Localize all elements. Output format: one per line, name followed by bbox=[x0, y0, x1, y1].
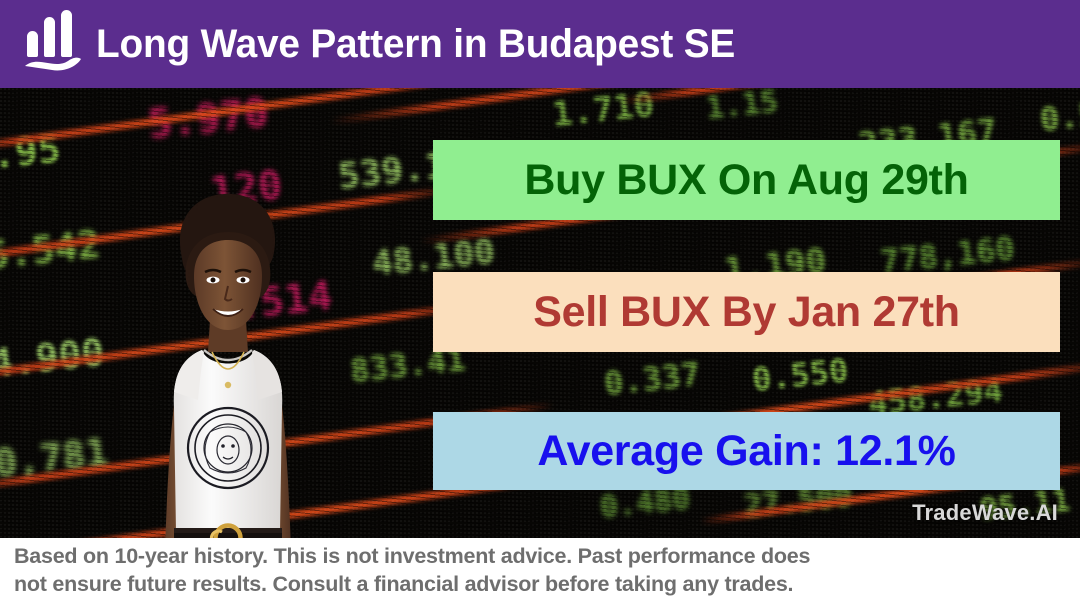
bar-chart-wave-logo-icon bbox=[24, 16, 82, 72]
person-photo bbox=[124, 180, 332, 600]
poster-canvas: 5.970.951.7101.15233 1670.5539.151205.54… bbox=[0, 0, 1080, 600]
buy-signal-text: Buy BUX On Aug 29th bbox=[524, 156, 968, 205]
buy-signal-banner[interactable]: Buy BUX On Aug 29th bbox=[433, 140, 1060, 220]
average-gain-banner[interactable]: Average Gain: 12.1% bbox=[433, 412, 1060, 490]
average-gain-text: Average Gain: 12.1% bbox=[537, 427, 955, 476]
disclaimer-line-2: not ensure future results. Consult a fin… bbox=[14, 570, 1070, 598]
page-title: Long Wave Pattern in Budapest SE bbox=[96, 22, 735, 67]
sell-signal-text: Sell BUX By Jan 27th bbox=[533, 288, 960, 337]
header-bar: Long Wave Pattern in Budapest SE bbox=[0, 0, 1080, 88]
brand-watermark: TradeWave.AI bbox=[912, 500, 1058, 526]
disclaimer-footer: Based on 10-year history. This is not in… bbox=[0, 538, 1080, 600]
sell-signal-banner[interactable]: Sell BUX By Jan 27th bbox=[433, 272, 1060, 352]
disclaimer-line-1: Based on 10-year history. This is not in… bbox=[14, 542, 1070, 570]
